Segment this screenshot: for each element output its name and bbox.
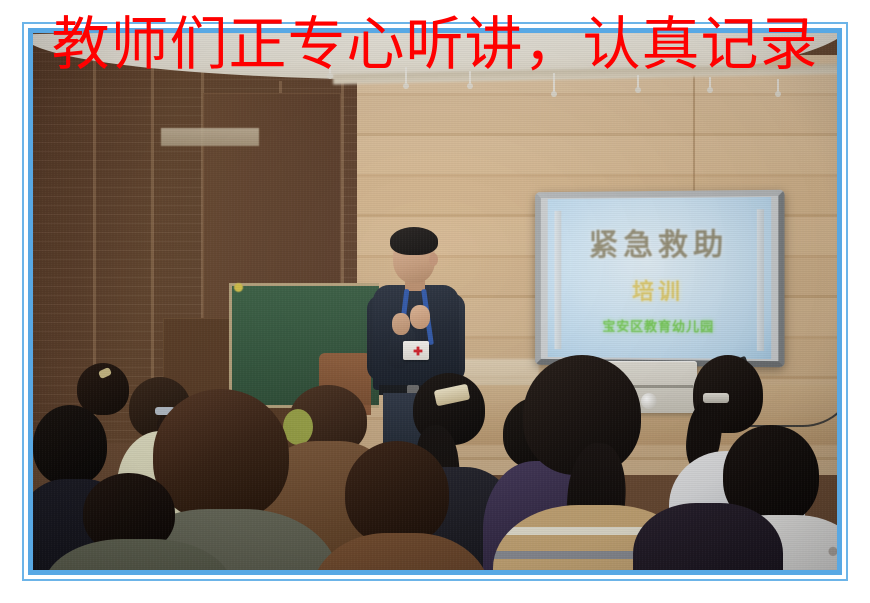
ceiling-hook-icon (777, 79, 779, 93)
headband (283, 409, 313, 445)
classroom-photograph: 紧急救助 培训 宝安区教育幼儿园 (33, 33, 837, 570)
projector-lens-icon (641, 393, 657, 409)
presenter-ear (429, 253, 438, 266)
presenter-hand (410, 305, 430, 329)
page-title: 教师们正专心听讲，认真记录 (0, 16, 870, 74)
presenter-hair (390, 227, 438, 255)
hair-clip (703, 393, 729, 403)
chalkboard-magnet-icon (234, 283, 243, 292)
red-cross-icon (413, 346, 423, 356)
scene: 紧急救助 培训 宝安区教育幼儿园 (33, 33, 837, 570)
whiteboard-bezel (535, 190, 784, 368)
attendee-hair (153, 389, 289, 521)
projection-whiteboard: 紧急救助 培训 宝安区教育幼儿园 (535, 190, 784, 368)
ceiling-hook-icon (709, 77, 711, 89)
ceiling-hook-icon (637, 75, 639, 89)
attendee-hair (345, 441, 449, 545)
wall-plaque (161, 128, 259, 146)
attendee-hair (33, 405, 107, 485)
presenter-hand (392, 313, 410, 335)
